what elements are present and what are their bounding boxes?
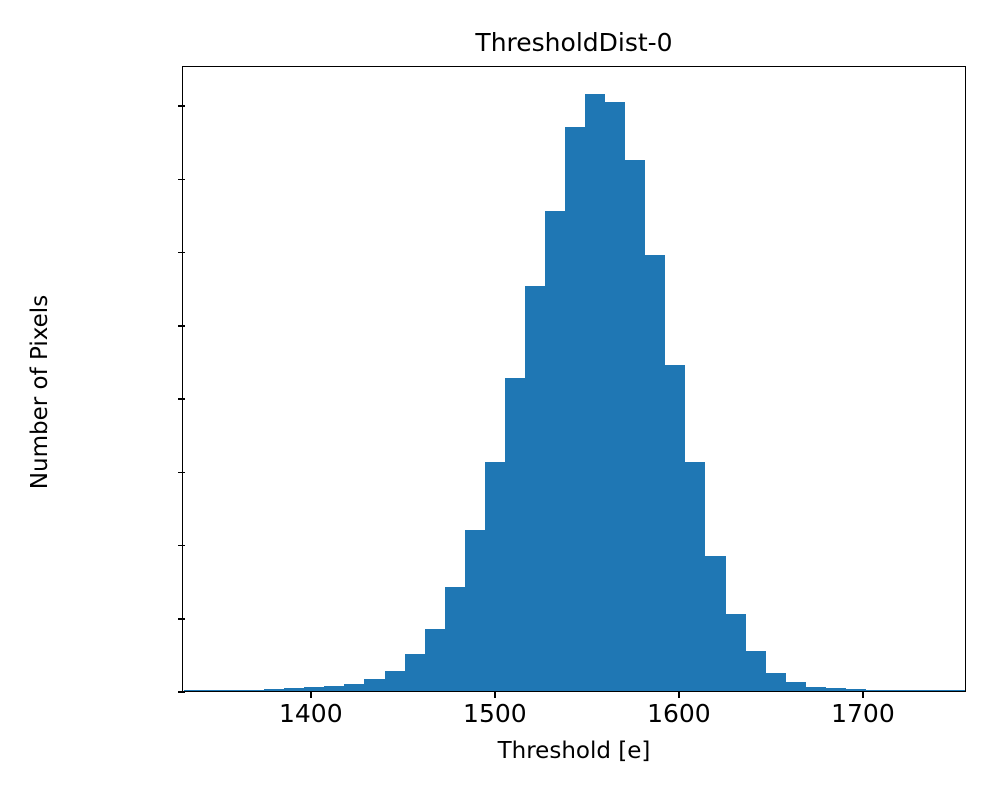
x-tick-mark xyxy=(310,691,312,698)
matplotlib-figure: ThresholdDist-0 Number of Pixels 0200040… xyxy=(0,0,1000,800)
x-axis-title: Threshold [e] xyxy=(182,738,966,764)
x-tick-label: 1700 xyxy=(831,700,895,728)
x-tick-label: 1600 xyxy=(647,700,711,728)
x-tick-mark xyxy=(494,691,496,698)
x-tick-mark xyxy=(862,691,864,698)
x-tick-label: 1400 xyxy=(279,700,343,728)
x-tick-label: 1500 xyxy=(463,700,527,728)
x-tick-mark xyxy=(678,691,680,698)
x-axis: 1400150016001700 xyxy=(0,0,1000,800)
